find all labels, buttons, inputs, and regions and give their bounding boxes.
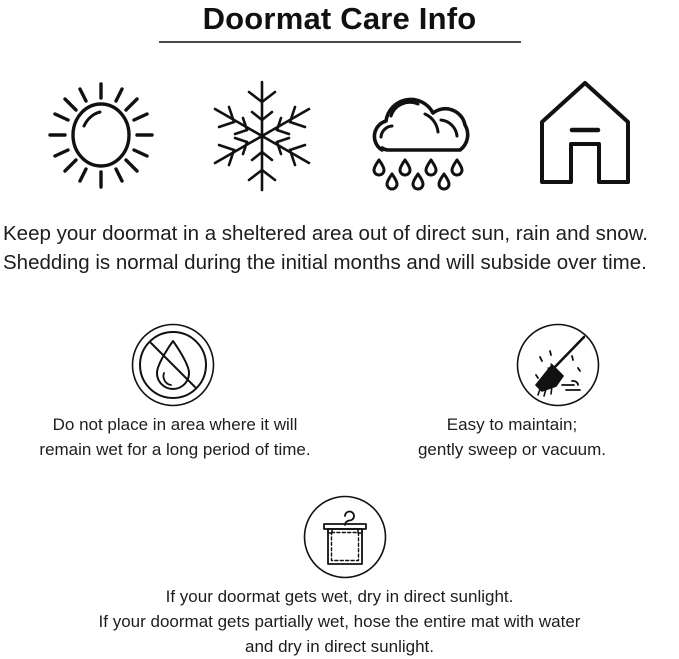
drying-caption: If your doormat gets wet, dry in direct … [0, 584, 679, 659]
intro-line-1: Keep your doormat in a sheltered area ou… [3, 219, 679, 248]
drying-caption-line-1: If your doormat gets wet, dry in direct … [0, 584, 679, 609]
drying-caption-line-2: If your doormat gets partially wet, hose… [0, 609, 679, 634]
snowflake-icon [197, 72, 327, 200]
no-water-icon [131, 323, 215, 407]
no-water-caption-line-2: remain wet for a long period of time. [0, 437, 350, 462]
sun-icon [36, 72, 166, 200]
house-icon [520, 72, 650, 200]
hang-to-dry-icon [303, 495, 387, 579]
title-underline-rule [159, 41, 521, 43]
rain-cloud-icon [357, 72, 487, 200]
page-header: Doormat Care Info [0, 0, 679, 43]
intro-line-2: Shedding is normal during the initial mo… [3, 248, 679, 277]
broom-sweep-icon [516, 323, 600, 407]
weather-icon-row [0, 72, 679, 200]
intro-paragraph: Keep your doormat in a sheltered area ou… [3, 219, 679, 277]
no-water-caption: Do not place in area where it will remai… [0, 412, 350, 462]
drying-caption-line-3: and dry in direct sunlight. [0, 634, 679, 659]
broom-caption: Easy to maintain; gently sweep or vacuum… [345, 412, 679, 462]
no-water-caption-line-1: Do not place in area where it will [0, 412, 350, 437]
broom-caption-line-1: Easy to maintain; [345, 412, 679, 437]
broom-caption-line-2: gently sweep or vacuum. [345, 437, 679, 462]
page-title: Doormat Care Info [0, 0, 679, 38]
